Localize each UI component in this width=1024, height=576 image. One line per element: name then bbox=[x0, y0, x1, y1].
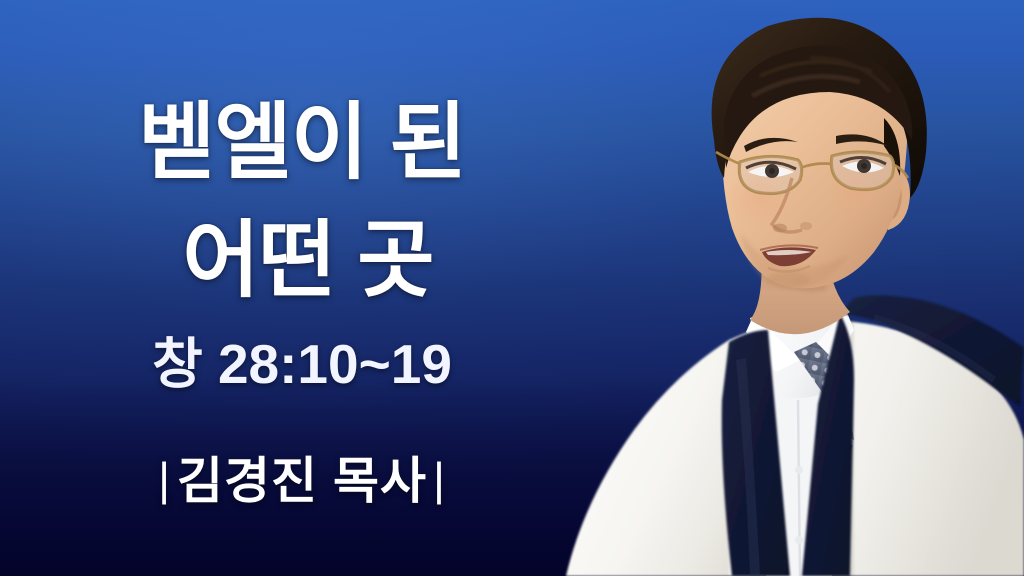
title-text-group: 벧엘이 된 어떤 곳 창 28:10~19 |김경진 목사| bbox=[0, 0, 620, 576]
pastor-portrait bbox=[554, 0, 1024, 576]
thumbnail-canvas: 벧엘이 된 어떤 곳 창 28:10~19 |김경진 목사| bbox=[0, 0, 1024, 576]
scripture-reference: 창 28:10~19 bbox=[0, 337, 612, 392]
speaker-left-bar: | bbox=[152, 456, 177, 502]
sermon-title-line-2: 어떤 곳 bbox=[0, 218, 618, 302]
speaker-right-bar: | bbox=[427, 456, 452, 502]
speaker-line: |김경진 목사| bbox=[0, 452, 612, 506]
speaker-name: 김경진 목사 bbox=[177, 453, 427, 509]
sermon-title-line-1: 벧엘이 된 bbox=[0, 100, 612, 184]
